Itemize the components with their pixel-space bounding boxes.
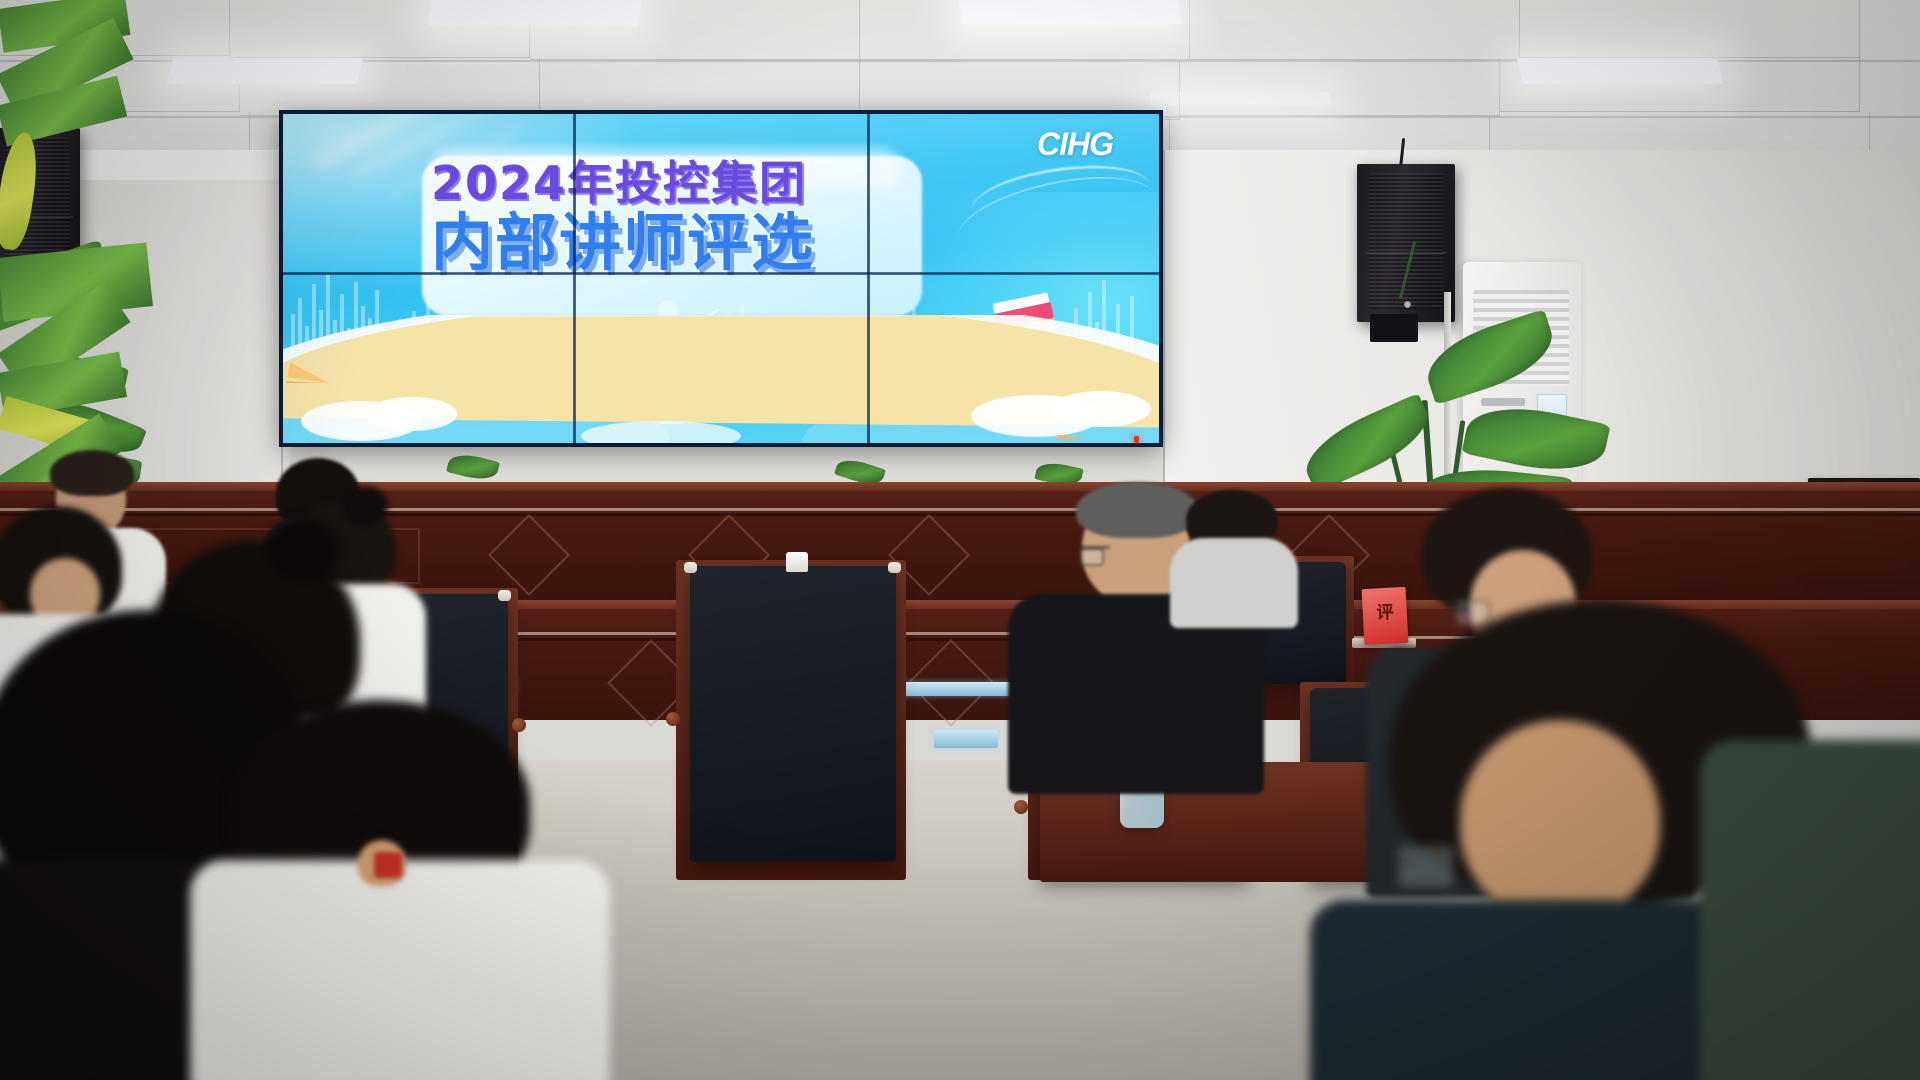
panel-seam-vertical [867, 112, 870, 445]
ceiling-light-panel [1149, 92, 1330, 106]
chair-corner-cap [498, 590, 511, 601]
name-card-text: 评 [1372, 598, 1398, 623]
speaker-mount-right [1370, 314, 1418, 342]
chair-armrest-knob [512, 718, 526, 732]
ceiling-light-panel [167, 58, 363, 84]
desk-tablet-screen[interactable] [900, 682, 1020, 696]
chair-back-center[interactable] [690, 566, 896, 862]
cihg-logo: CIHG [1037, 126, 1113, 163]
chair-corner-cap [684, 562, 697, 573]
conference-room-scene: CIHG [0, 0, 1920, 1080]
video-wall-display[interactable]: CIHG [281, 112, 1161, 445]
power-led-indicator [1134, 436, 1139, 443]
chair-armrest-knob [666, 712, 680, 726]
paper-cup [786, 552, 808, 572]
title-line-2: 内部讲师评选 [431, 212, 1151, 274]
slide-title: 2024年投控集团 内部讲师评选 [431, 160, 1151, 274]
desk-tablet-screen[interactable] [934, 730, 998, 748]
slide-foreground [281, 315, 1161, 445]
panel-seam-vertical [573, 112, 576, 445]
wall-speaker-right [1357, 164, 1455, 322]
ceiling-light-panel [1517, 58, 1723, 84]
chair-armrest-knob [1014, 800, 1028, 814]
ceiling-light-panel [427, 0, 642, 26]
red-object [374, 852, 402, 878]
ac-brand-label [1481, 398, 1525, 406]
panel-seam-horizontal [281, 272, 1161, 275]
title-line-1: 2024年投控集团 [431, 160, 1151, 206]
chair-corner-cap [888, 562, 901, 573]
ceiling-light-panel [958, 0, 1182, 24]
presentation-slide: CIHG [281, 112, 1161, 445]
